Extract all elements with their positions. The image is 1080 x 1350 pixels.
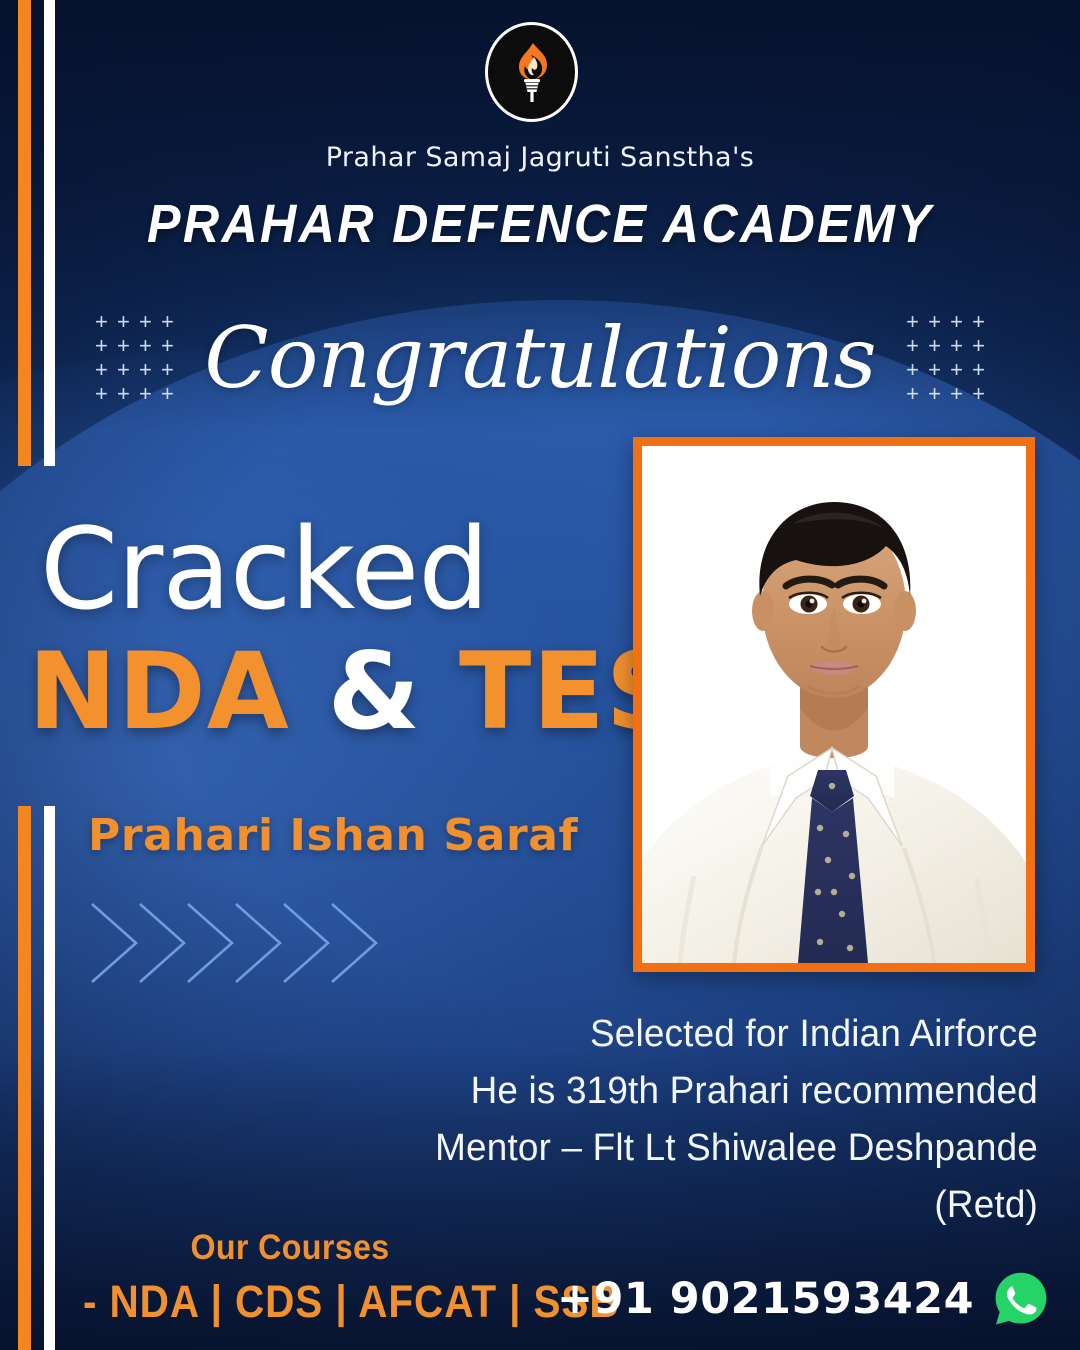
chevron-right-icon <box>284 904 328 982</box>
plus-icon: + <box>902 382 924 406</box>
chevron-right-icon <box>236 904 280 982</box>
plus-icon: + <box>112 310 134 334</box>
chevron-right-icon <box>332 904 376 982</box>
congratulations-text: Congratulations <box>204 309 875 407</box>
student-name: Prahari Ishan Saraf <box>88 810 578 861</box>
organisation-line: Prahar Samaj Jagruti Sanstha's <box>0 142 1080 173</box>
chevron-right-icon <box>188 904 232 982</box>
plus-icon: + <box>924 310 946 334</box>
plus-icon: + <box>90 334 112 358</box>
our-courses-list: - NDA | CDS | AFCAT | SSB <box>83 1276 497 1328</box>
student-photo-frame <box>633 437 1035 972</box>
plus-icon: + <box>134 358 156 382</box>
plus-icon: + <box>902 358 924 382</box>
detail-line-3: Mentor – Flt Lt Shiwalee Deshpande (Retd… <box>340 1120 1038 1234</box>
plus-icon: + <box>90 358 112 382</box>
detail-line-1: Selected for Indian Airforce <box>340 1006 1038 1063</box>
plus-icon: + <box>156 310 178 334</box>
plus-icon: + <box>946 310 968 334</box>
left-stripe-white-bottom <box>44 806 55 1350</box>
phone-number[interactable]: +91 9021593424 <box>557 1274 974 1324</box>
plus-icon: + <box>134 334 156 358</box>
detail-line-2: He is 319th Prahari recommended <box>340 1063 1038 1120</box>
our-courses-title: Our Courses <box>78 1228 501 1268</box>
ampersand-label: & <box>328 630 421 753</box>
headline-exams: NDA & TES <box>28 630 683 753</box>
plus-icon: + <box>902 310 924 334</box>
plus-grid-left: ++++ ++++ ++++ ++++ <box>90 310 178 406</box>
plus-icon: + <box>968 382 990 406</box>
plus-icon: + <box>134 310 156 334</box>
plus-icon: + <box>134 382 156 406</box>
chevron-arrows-decoration <box>88 898 388 988</box>
academy-title: PRAHAR DEFENCE ACADEMY <box>38 193 1042 255</box>
plus-icon: + <box>90 382 112 406</box>
congratulations-row: ++++ ++++ ++++ ++++ Congratulations ++++… <box>0 298 1080 418</box>
plus-icon: + <box>924 358 946 382</box>
chevron-right-icon <box>92 904 136 982</box>
our-courses-block: Our Courses - NDA | CDS | AFCAT | SSB <box>60 1228 520 1328</box>
torch-flame-icon <box>507 40 557 104</box>
achievement-details: Selected for Indian Airforce He is 319th… <box>318 1006 1038 1234</box>
contact-block[interactable]: +91 9021593424 <box>557 1270 1050 1328</box>
plus-icon: + <box>968 358 990 382</box>
plus-icon: + <box>156 382 178 406</box>
plus-icon: + <box>924 334 946 358</box>
plus-icon: + <box>902 334 924 358</box>
plus-icon: + <box>156 334 178 358</box>
whatsapp-icon[interactable] <box>992 1270 1050 1328</box>
plus-icon: + <box>112 382 134 406</box>
exam-nda-label: NDA <box>28 630 290 753</box>
headline-cracked: Cracked <box>40 505 488 635</box>
plus-icon: + <box>90 310 112 334</box>
plus-icon: + <box>946 334 968 358</box>
plus-grid-right: ++++ ++++ ++++ ++++ <box>902 310 990 406</box>
student-photo <box>642 446 1026 963</box>
plus-icon: + <box>946 358 968 382</box>
congratulations-poster: Prahar Samaj Jagruti Sanstha's PRAHAR DE… <box>0 0 1080 1350</box>
plus-icon: + <box>968 334 990 358</box>
left-stripe-orange-bottom <box>18 806 31 1350</box>
chevron-right-icon <box>140 904 184 982</box>
plus-icon: + <box>112 334 134 358</box>
plus-icon: + <box>946 382 968 406</box>
plus-icon: + <box>156 358 178 382</box>
plus-icon: + <box>924 382 946 406</box>
plus-icon: + <box>968 310 990 334</box>
plus-icon: + <box>112 358 134 382</box>
academy-logo <box>485 22 578 122</box>
